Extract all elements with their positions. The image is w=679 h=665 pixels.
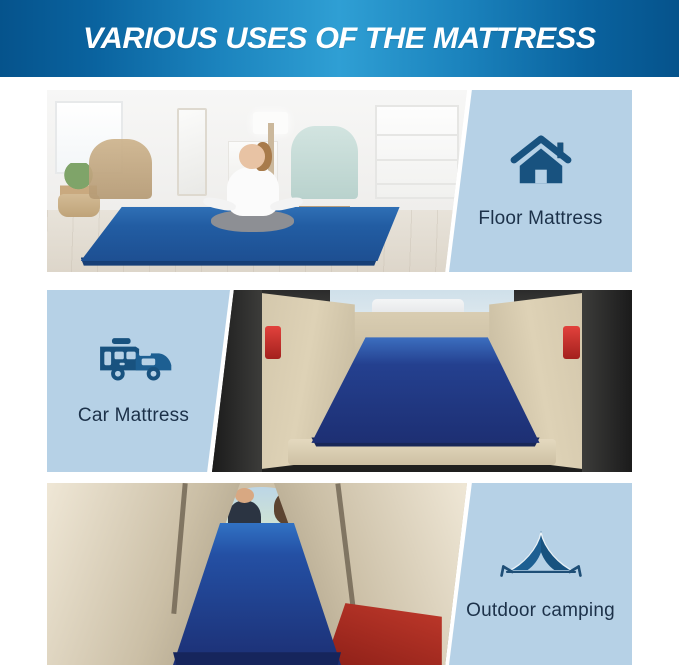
photo-floor-mattress bbox=[47, 90, 467, 272]
photo-outdoor-camping bbox=[47, 483, 467, 665]
use-case-row-outdoor-camping: Outdoor camping bbox=[47, 483, 632, 665]
rv-camper-icon bbox=[95, 336, 173, 391]
taillight-left bbox=[265, 326, 282, 359]
house-icon bbox=[510, 133, 572, 194]
use-case-row-car-mattress: Car Mattress bbox=[47, 290, 632, 472]
page-title: VARIOUS USES OF THE MATTRESS bbox=[83, 22, 596, 56]
wall-shelf bbox=[375, 105, 459, 200]
label-panel-car-mattress: Car Mattress bbox=[47, 290, 230, 472]
header-banner: VARIOUS USES OF THE MATTRESS bbox=[0, 0, 679, 77]
hatch-frame-right bbox=[582, 290, 632, 472]
use-case-row-floor-mattress: Floor Mattress bbox=[47, 90, 632, 272]
rattan-chair bbox=[89, 139, 152, 199]
taillight-right bbox=[563, 326, 580, 359]
person-meditating bbox=[198, 130, 307, 232]
label-panel-outdoor-camping: Outdoor camping bbox=[449, 483, 632, 665]
label-panel-floor-mattress: Floor Mattress bbox=[449, 90, 632, 272]
label-car-mattress: Car Mattress bbox=[78, 405, 189, 427]
photo-car-mattress bbox=[212, 290, 632, 472]
label-outdoor-camping: Outdoor camping bbox=[466, 600, 615, 622]
label-floor-mattress: Floor Mattress bbox=[478, 208, 602, 230]
tent-icon bbox=[498, 527, 584, 586]
